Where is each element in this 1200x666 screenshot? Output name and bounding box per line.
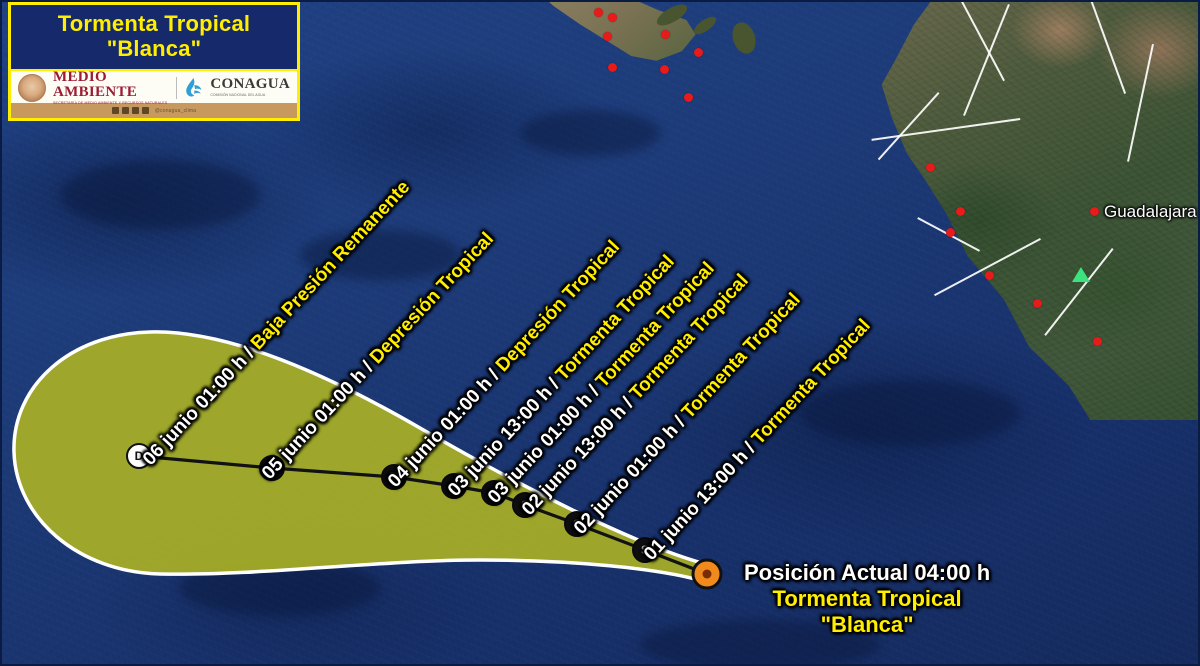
- bathymetry-feature: [520, 110, 660, 156]
- instagram-icon[interactable]: [122, 107, 129, 114]
- youtube-icon[interactable]: [132, 107, 139, 114]
- current-position-marker: [692, 559, 723, 590]
- social-media-bar: @conagua_clima: [8, 103, 300, 121]
- current-position-time: Posición Actual 04:00 h: [744, 560, 990, 586]
- bathymetry-feature: [180, 560, 380, 616]
- water-drop-icon: [184, 77, 203, 98]
- agency-main-name: MEDIO AMBIENTE: [53, 70, 169, 100]
- facebook-icon[interactable]: [112, 107, 119, 114]
- storm-title-line1: Tormenta Tropical: [19, 11, 289, 36]
- city-dot: [661, 30, 670, 39]
- city-dot: [985, 271, 994, 280]
- city-label-guadalajara: Guadalajara: [1104, 202, 1197, 222]
- national-seal-icon: [18, 74, 46, 102]
- city-dot: [1033, 299, 1042, 308]
- current-position-category: Tormenta Tropical: [744, 586, 990, 612]
- semarnat-wordmark: MEDIO AMBIENTE SECRETARÍA DE MEDIO AMBIE…: [53, 70, 169, 106]
- city-dot: [608, 13, 617, 22]
- agency-second-name: CONAGUA: [210, 77, 290, 92]
- storm-title-line2: "Blanca": [19, 36, 289, 61]
- city-dot: [684, 93, 693, 102]
- city-dot-guadalajara: [1090, 207, 1099, 216]
- current-position-name: "Blanca": [744, 612, 990, 638]
- city-dot: [926, 163, 935, 172]
- agency-main-subtitle: SECRETARÍA DE MEDIO AMBIENTE Y RECURSOS …: [53, 102, 169, 106]
- city-dot: [1093, 337, 1102, 346]
- city-dot: [594, 8, 603, 17]
- twitter-icon[interactable]: [142, 107, 149, 114]
- agency-logo-bar: MEDIO AMBIENTE SECRETARÍA DE MEDIO AMBIE…: [8, 69, 300, 103]
- conagua-wordmark: CONAGUA COMISIÓN NACIONAL DEL AGUA: [210, 77, 290, 98]
- storm-forecast-map: Guadalajara DDDSSSSS 06 junio 01:00 h / …: [0, 0, 1200, 666]
- volcano-icon: [1072, 267, 1090, 282]
- logo-divider: [176, 77, 177, 99]
- city-dot: [660, 65, 669, 74]
- title-panel: Tormenta Tropical "Blanca" MEDIO AMBIENT…: [8, 2, 300, 121]
- city-dot: [946, 228, 955, 237]
- title-box: Tormenta Tropical "Blanca": [8, 2, 300, 69]
- city-dot: [603, 32, 612, 41]
- city-dot: [694, 48, 703, 57]
- current-position-callout: Posición Actual 04:00 h Tormenta Tropica…: [744, 560, 990, 638]
- storm-eye-icon: [703, 570, 712, 579]
- bathymetry-feature: [60, 160, 260, 230]
- bathymetry-feature: [800, 380, 1020, 446]
- agency-second-subtitle: COMISIÓN NACIONAL DEL AGUA: [210, 94, 290, 98]
- city-dot: [608, 63, 617, 72]
- city-dot: [956, 207, 965, 216]
- social-handle: @conagua_clima: [155, 108, 197, 114]
